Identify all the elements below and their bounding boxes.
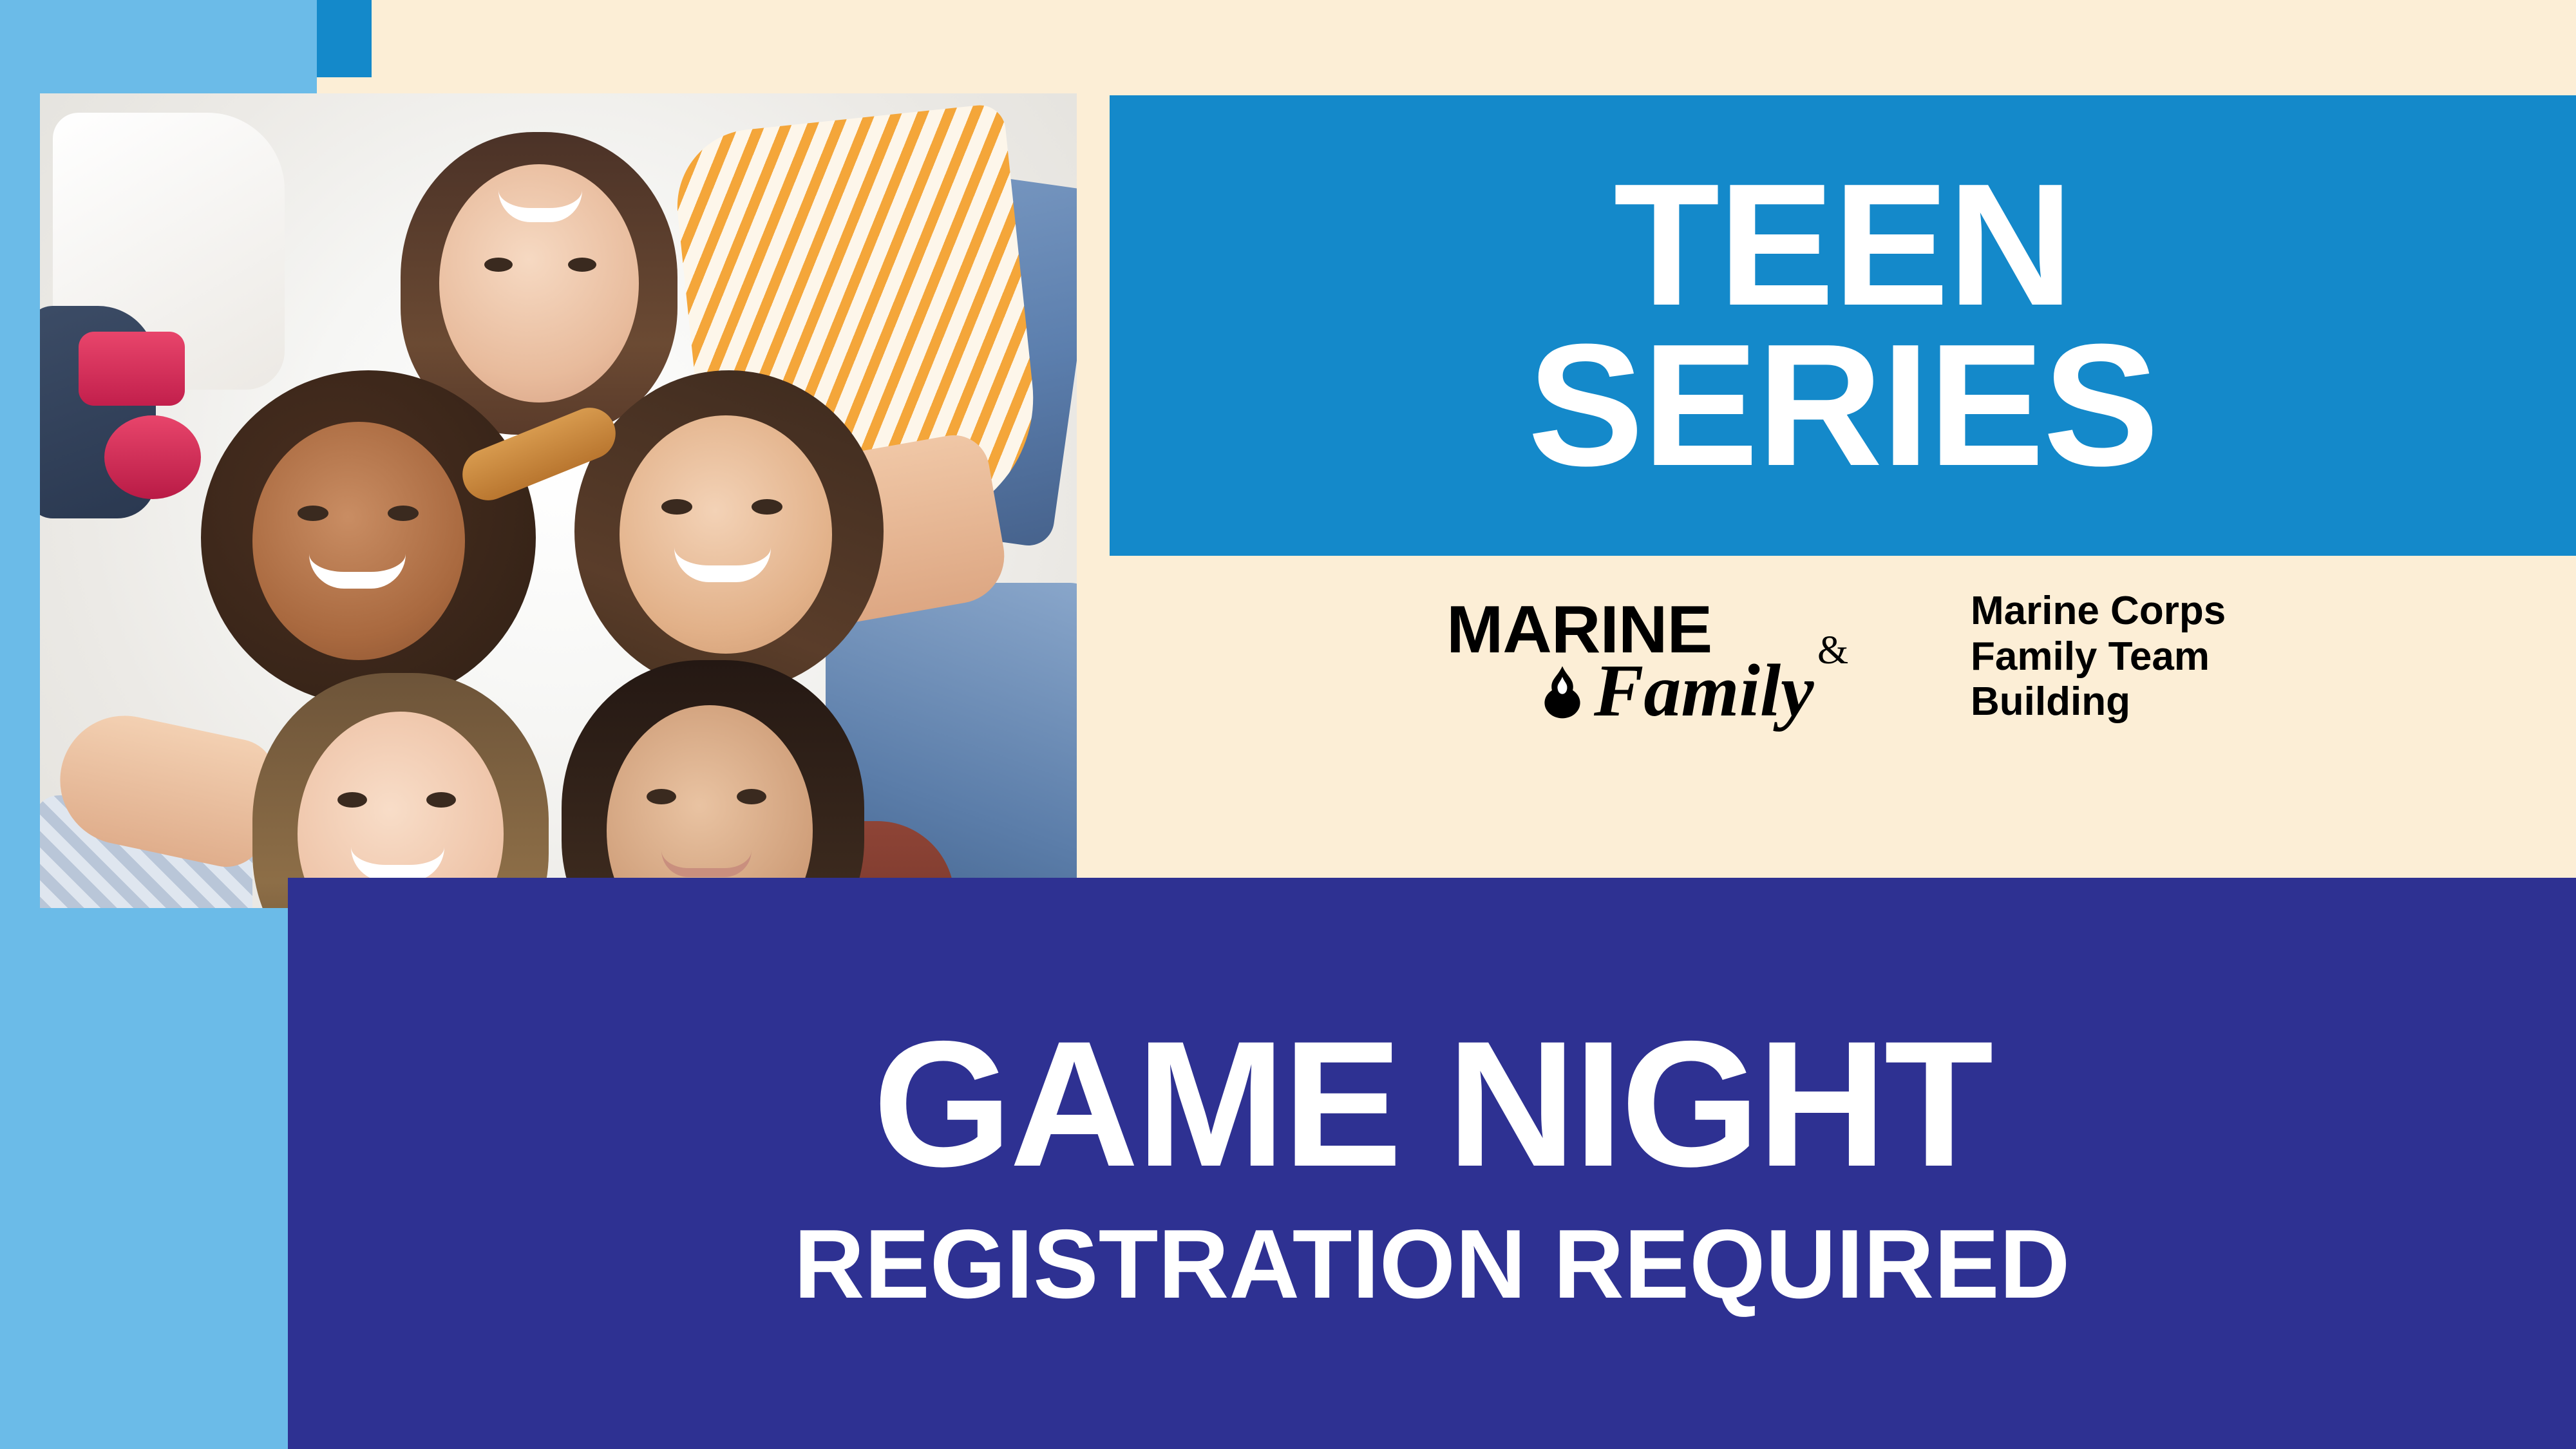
photo-head-5-smile — [661, 850, 752, 877]
marine-family-logo-lockup: MARINE & Family Marine Corps Family Team… — [1436, 583, 2286, 731]
photo-head-1-eye-right — [568, 258, 596, 272]
photo-head-2-eye-left — [298, 506, 328, 521]
photo-head-3-face — [620, 415, 832, 654]
poster-canvas: TEEN SERIES MARINE & Family Marine Corps… — [0, 0, 2576, 1449]
photo-pink-drink-cup — [79, 332, 185, 406]
registration-required-subtitle: REGISTRATION REQUIRED — [794, 1215, 2070, 1313]
photo-head-4-eye-right — [426, 792, 456, 808]
teen-series-line-2: SERIES — [1528, 326, 2157, 486]
photo-head-2-face — [252, 422, 465, 660]
marine-family-logo-mark: MARINE & Family — [1436, 589, 1951, 724]
logo-ampersand: & — [1817, 628, 1848, 674]
photo-head-1-eye-left — [484, 258, 513, 272]
teen-series-line-1: TEEN — [1613, 166, 2072, 325]
photo-head-5-eye-left — [647, 789, 676, 804]
teens-photo — [40, 93, 1077, 908]
photo-head-3-eye-left — [661, 499, 692, 515]
photo-head-3-eye-right — [752, 499, 782, 515]
photo-pink-drink-lid — [104, 415, 201, 499]
photo-head-2-eye-right — [388, 506, 419, 521]
torch-icon — [1533, 661, 1592, 721]
photo-head-4-eye-left — [337, 792, 367, 808]
teen-series-banner: TEEN SERIES — [1110, 95, 2576, 556]
logo-organization-name: Marine Corps Family Team Building — [1971, 589, 2226, 725]
game-night-banner: GAME NIGHT REGISTRATION REQUIRED — [288, 878, 2576, 1449]
top-left-blue-accent-bar — [317, 0, 372, 77]
photo-head-5-eye-right — [737, 789, 766, 804]
game-night-title: GAME NIGHT — [873, 1014, 1991, 1193]
logo-family-wordmark: Family — [1594, 649, 1814, 734]
